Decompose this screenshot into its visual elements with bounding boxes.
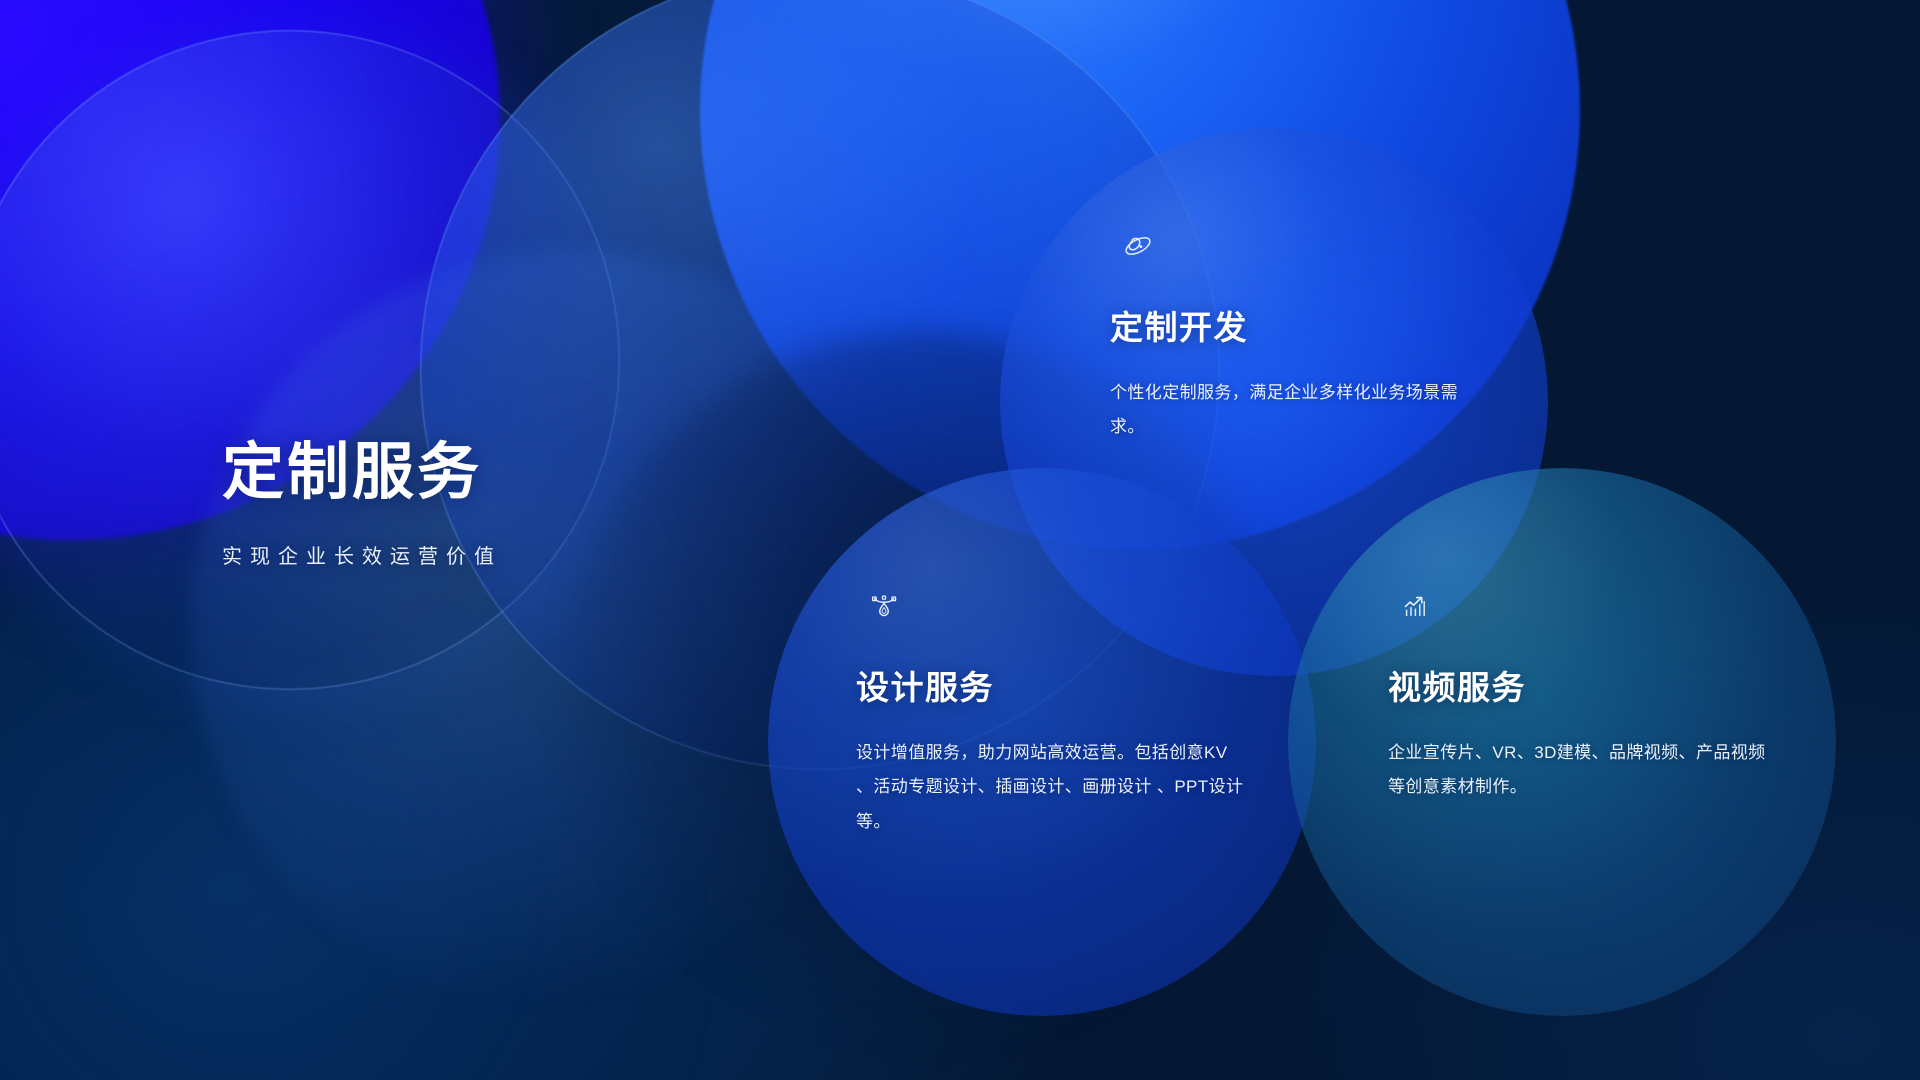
card-description: 个性化定制服务，满足企业多样化业务场景需求。 xyxy=(1110,376,1480,446)
pen-nib-icon xyxy=(856,578,912,634)
hero-section: 定制服务 实现企业长效运营价值 定制开发 个性化定制服务，满足企业多样化业务场景… xyxy=(0,0,1920,1080)
bottom-left-wash-blob xyxy=(0,560,680,1080)
card-title: 设计服务 xyxy=(856,668,1246,708)
card-content: 定制开发 个性化定制服务，满足企业多样化业务场景需求。 xyxy=(1110,218,1480,445)
service-card-video[interactable]: 视频服务 企业宣传片、VR、3D建模、品牌视频、产品视频等创意素材制作。 xyxy=(1288,468,1836,1016)
page-title: 定制服务 xyxy=(222,440,782,507)
page-subtitle: 实现企业长效运营价值 xyxy=(222,543,782,571)
card-content: 视频服务 企业宣传片、VR、3D建模、品牌视频、产品视频等创意素材制作。 xyxy=(1388,578,1768,805)
card-title: 视频服务 xyxy=(1388,668,1768,708)
service-card-design[interactable]: 设计服务 设计增值服务，助力网站高效运营。包括创意KV 、活动专题设计、插画设计… xyxy=(768,468,1316,1016)
growth-chart-icon xyxy=(1388,578,1444,634)
atom-orbit-icon xyxy=(1110,218,1166,274)
hero-headline: 定制服务 实现企业长效运营价值 xyxy=(222,440,782,571)
card-content: 设计服务 设计增值服务，助力网站高效运营。包括创意KV 、活动专题设计、插画设计… xyxy=(856,578,1246,840)
card-description: 企业宣传片、VR、3D建模、品牌视频、产品视频等创意素材制作。 xyxy=(1388,736,1768,806)
card-description: 设计增值服务，助力网站高效运营。包括创意KV 、活动专题设计、插画设计、画册设计… xyxy=(856,736,1246,841)
card-title: 定制开发 xyxy=(1110,308,1480,348)
left-glass-sphere xyxy=(0,30,620,690)
left-glass-sphere-rim xyxy=(0,30,620,690)
